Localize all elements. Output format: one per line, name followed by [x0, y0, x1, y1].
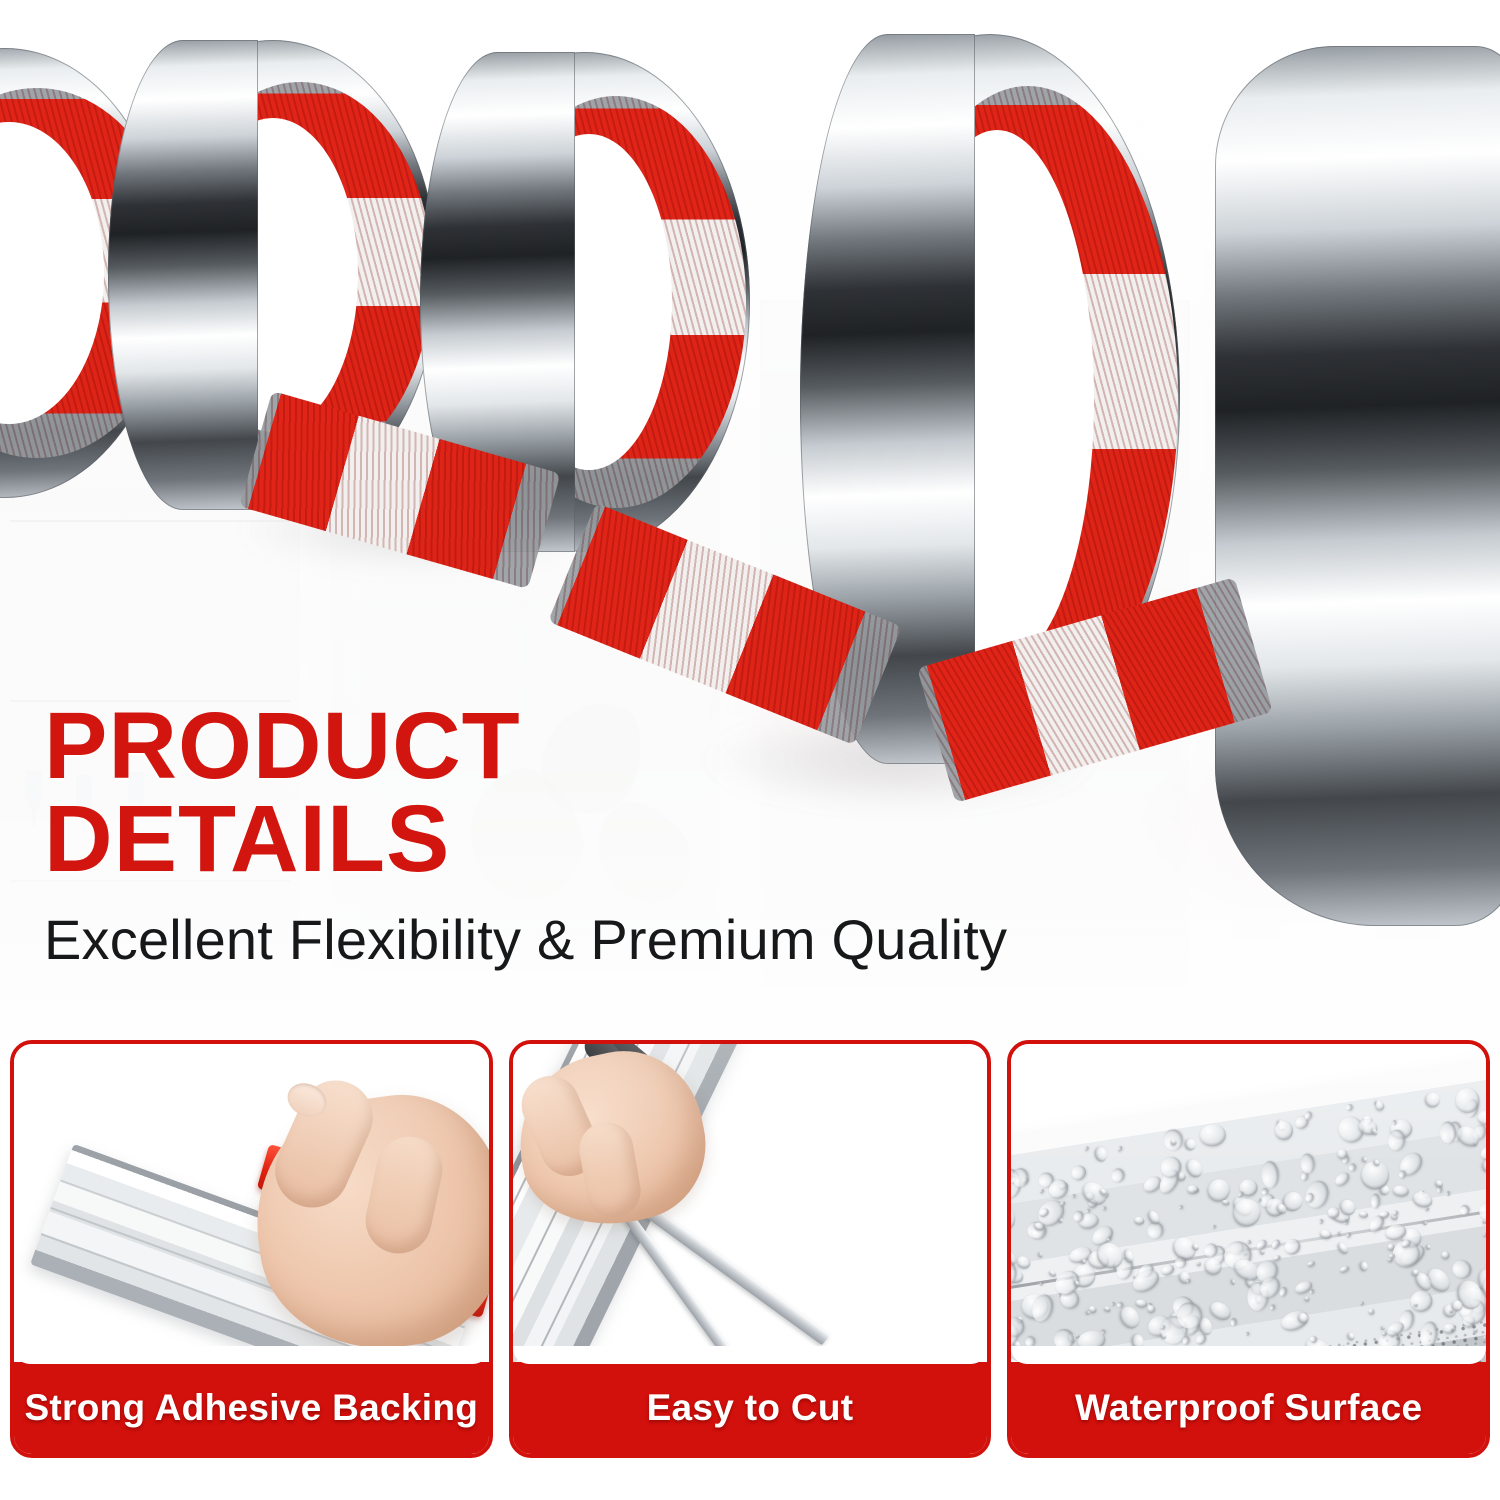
water-droplet [1282, 1235, 1303, 1256]
water-droplet [1039, 1281, 1043, 1286]
water-droplet [1197, 1262, 1201, 1266]
water-droplet [1447, 1192, 1451, 1197]
water-droplet [1371, 1194, 1381, 1209]
feature-panel-easy-cut[interactable]: Easy to Cut [509, 1040, 992, 1458]
panel-image-waterproof-surface [1011, 1044, 1486, 1362]
water-droplet [1309, 1290, 1313, 1295]
water-droplet [1147, 1305, 1155, 1313]
water-droplet [1199, 1123, 1227, 1147]
water-droplet [1422, 1089, 1443, 1110]
page-subtitle: Excellent Flexibility & Premium Quality [44, 910, 1164, 969]
water-droplet [1360, 1212, 1369, 1218]
water-droplet [1261, 1161, 1280, 1189]
coil-tail [1215, 46, 1500, 926]
water-droplet [1349, 1162, 1358, 1171]
water-droplet [1319, 1229, 1332, 1241]
water-droplet [1011, 1201, 1020, 1237]
water-droplet [1271, 1238, 1282, 1250]
water-droplet [1104, 1305, 1112, 1312]
water-droplet [1482, 1233, 1486, 1238]
water-droplet [1459, 1205, 1471, 1217]
water-droplet [1300, 1153, 1315, 1174]
water-droplet [1093, 1146, 1108, 1163]
water-droplet [1336, 1241, 1351, 1256]
panel-image-easy-to-cut [513, 1044, 988, 1362]
water-droplet [1230, 1279, 1236, 1286]
headline-block: PRODUCT DETAILS Excellent Flexibility & … [44, 700, 1164, 970]
water-droplet [1482, 1334, 1486, 1342]
water-droplet [1048, 1269, 1057, 1277]
panel-caption-easy-cut: Easy to Cut [513, 1362, 988, 1454]
water-droplet [1360, 1302, 1365, 1307]
water-droplet [1012, 1168, 1029, 1187]
water-droplet [1454, 1086, 1481, 1114]
water-droplet [1102, 1205, 1107, 1210]
water-droplet [1305, 1296, 1311, 1301]
water-droplet [1419, 1320, 1440, 1349]
water-droplet [1304, 1110, 1314, 1121]
water-droplet [1345, 1103, 1353, 1112]
water-droplet [1015, 1254, 1033, 1271]
water-droplet [1111, 1167, 1126, 1183]
water-droplet [1221, 1200, 1230, 1207]
water-droplet [1437, 1187, 1442, 1194]
water-droplet [1480, 1158, 1486, 1175]
chrome-surface [1011, 1049, 1486, 1362]
water-droplet [1270, 1304, 1276, 1311]
water-droplet [1177, 1270, 1193, 1286]
page-title: PRODUCT DETAILS [44, 700, 1164, 886]
panel-caption-adhesive: Strong Adhesive Backing [14, 1362, 489, 1454]
water-droplet [1362, 1156, 1369, 1163]
water-droplet [1426, 1244, 1432, 1250]
water-droplet [1059, 1217, 1064, 1223]
water-droplet [1393, 1184, 1410, 1196]
water-droplet [1359, 1261, 1369, 1272]
water-droplet [1182, 1335, 1191, 1345]
water-droplet [1135, 1299, 1148, 1309]
water-droplet [1259, 1249, 1265, 1255]
page-title-line-2: DETAILS [44, 793, 1164, 886]
water-droplet [1179, 1204, 1184, 1209]
water-droplet [1230, 1318, 1236, 1326]
water-droplet [1473, 1328, 1478, 1333]
water-droplet [1338, 1231, 1343, 1236]
water-droplet [1408, 1288, 1436, 1315]
water-droplet [1187, 1185, 1199, 1195]
water-droplet [1111, 1301, 1116, 1306]
water-droplet [1279, 1286, 1289, 1298]
water-droplet [1333, 1170, 1353, 1189]
feature-panel-waterproof[interactable]: Waterproof Surface [1007, 1040, 1490, 1458]
product-detail-image: PRODUCT DETAILS Excellent Flexibility & … [0, 0, 1500, 1500]
water-droplet [1442, 1251, 1450, 1259]
water-droplet [1398, 1170, 1406, 1179]
water-droplet [1246, 1331, 1250, 1336]
water-droplet [1387, 1129, 1406, 1152]
water-droplet [1443, 1323, 1457, 1335]
water-droplet [1275, 1121, 1294, 1141]
water-droplet [1037, 1252, 1043, 1259]
water-droplet [1337, 1149, 1348, 1159]
water-droplet [1203, 1175, 1234, 1207]
feature-panel-adhesive[interactable]: Strong Adhesive Backing [10, 1040, 493, 1458]
water-droplet [1319, 1219, 1325, 1225]
water-droplets [1011, 1049, 1486, 1362]
panel-caption-waterproof: Waterproof Surface [1011, 1362, 1486, 1454]
water-droplet [1072, 1194, 1075, 1198]
water-droplet [1160, 1263, 1176, 1278]
water-droplet [1368, 1308, 1375, 1315]
water-droplet [1129, 1266, 1163, 1296]
water-droplet [1346, 1233, 1352, 1239]
water-droplet [1423, 1220, 1428, 1225]
water-droplet [1117, 1145, 1123, 1152]
feature-panel-row: Strong Adhesive Backing Easy t [0, 1040, 1500, 1500]
water-droplet [1411, 1190, 1435, 1211]
water-droplet [1449, 1257, 1474, 1282]
page-title-line-1: PRODUCT [44, 693, 521, 799]
water-droplet [1376, 1102, 1386, 1112]
water-droplet [1040, 1188, 1046, 1194]
water-droplet [1135, 1217, 1146, 1226]
water-droplet [1084, 1146, 1089, 1152]
water-droplet [1346, 1332, 1356, 1342]
water-droplet [1339, 1264, 1351, 1274]
water-droplet [1212, 1224, 1217, 1229]
water-droplet [1247, 1239, 1253, 1245]
water-droplet [1069, 1162, 1089, 1183]
water-droplet [1183, 1156, 1205, 1180]
panel-image-adhesive-backing [14, 1044, 489, 1362]
water-droplet [1307, 1260, 1316, 1268]
water-droplet [1183, 1137, 1198, 1152]
